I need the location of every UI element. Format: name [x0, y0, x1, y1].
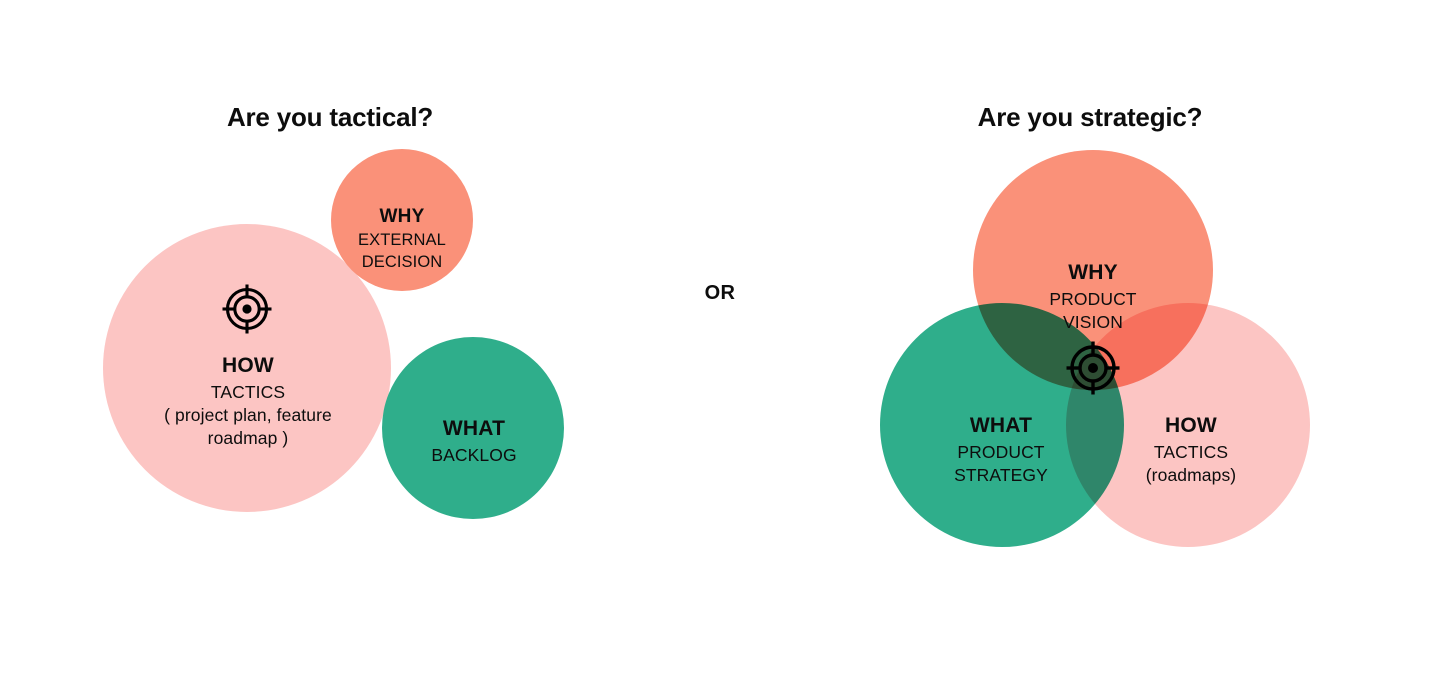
target-crosshair-icon	[1065, 340, 1121, 396]
diagram-canvas: Are you tactical? WHY EXTERNAL DECISION	[0, 0, 1440, 684]
right-venn-group	[0, 0, 1440, 684]
